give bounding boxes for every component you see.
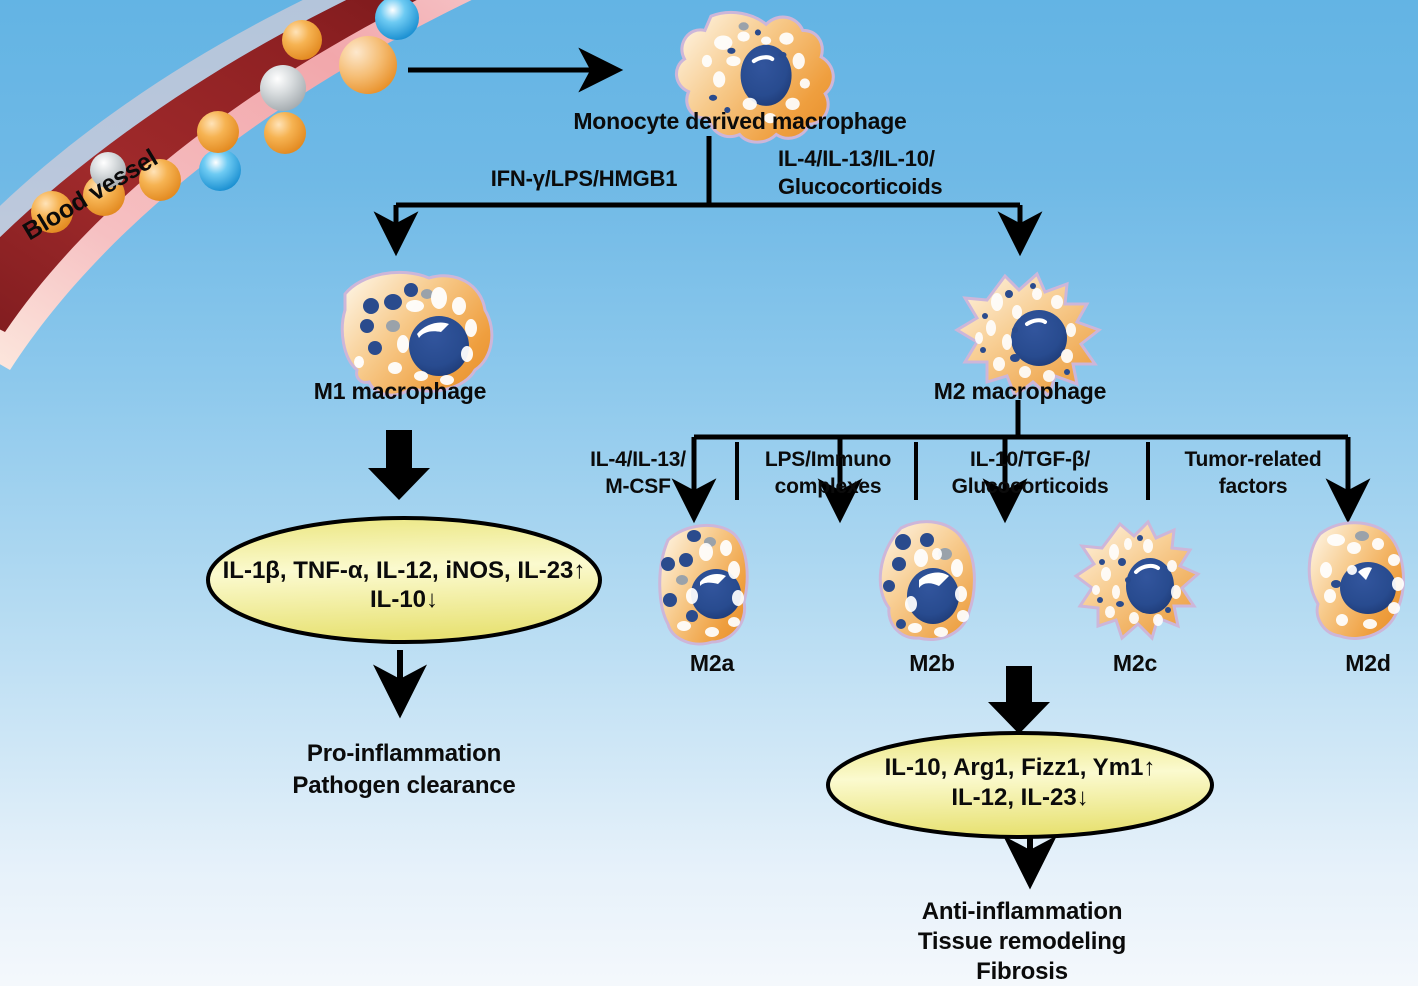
m2d-cell: [1309, 523, 1404, 639]
m1-outcome-line1: Pro-inflammation: [307, 740, 501, 767]
m2c-label: M2c: [1113, 650, 1157, 676]
m2b-stimuli-line1: LPS/Immuno: [765, 448, 891, 472]
m2-macrophage-label: M2 macrophage: [934, 378, 1107, 404]
m2c-cell: [1076, 522, 1198, 638]
m2a-stimuli-line2: M-CSF: [605, 475, 671, 499]
m2-outcome-line1: Anti-inflammation: [922, 898, 1123, 925]
m2c-stimuli-line1: IL-10/TGF-β/: [970, 448, 1090, 472]
m2b-stimuli-line2: complexes: [775, 475, 882, 499]
diagram-graphics: [0, 0, 1418, 986]
m2d-label: M2d: [1345, 650, 1390, 676]
m2b-label: M2b: [909, 650, 954, 676]
m2d-stimuli-line2: factors: [1219, 475, 1288, 499]
m1-macrophage-cell: [342, 272, 492, 395]
m1-macrophage-label: M1 macrophage: [314, 378, 487, 404]
m2-cytokine-line1: IL-10, Arg1, Fizz1, Ym1↑: [885, 754, 1156, 783]
m1-cytokine-line2: IL-10↓: [370, 586, 438, 615]
diagram-canvas: Blood vessel Monocyte derived macrophage…: [0, 0, 1418, 986]
m2-cytokine-line2: IL-12, IL-23↓: [951, 784, 1088, 813]
m1-cytokine-line1: IL-1β, TNF-α, IL-12, iNOS, IL-23↑: [223, 557, 586, 586]
m2a-stimuli-line1: IL-4/IL-13/: [590, 448, 686, 472]
monocyte-label: Monocyte derived macrophage: [573, 108, 906, 134]
m2-outcome-line2: Tissue remodeling: [918, 928, 1126, 955]
m1-to-cytokines-arrow: [368, 430, 430, 500]
m2-stimuli-label-line2: Glucocorticoids: [778, 174, 942, 199]
m2d-stimuli-line1: Tumor-related: [1184, 448, 1321, 472]
m1-stimuli-label: IFN-γ/LPS/HMGB1: [491, 166, 677, 191]
m2a-cell: [660, 525, 747, 644]
m2c-stimuli-line2: Glucocorticoids: [952, 475, 1109, 499]
m2b-cell: [880, 522, 974, 640]
m1-outcome-line2: Pathogen clearance: [292, 772, 515, 799]
m2-stimuli-label-line1: IL-4/IL-13/IL-10/: [778, 146, 935, 171]
m2a-label: M2a: [690, 650, 734, 676]
m2b-to-cytokines-arrow: [988, 666, 1050, 734]
m2-outcome-line3: Fibrosis: [976, 958, 1068, 985]
